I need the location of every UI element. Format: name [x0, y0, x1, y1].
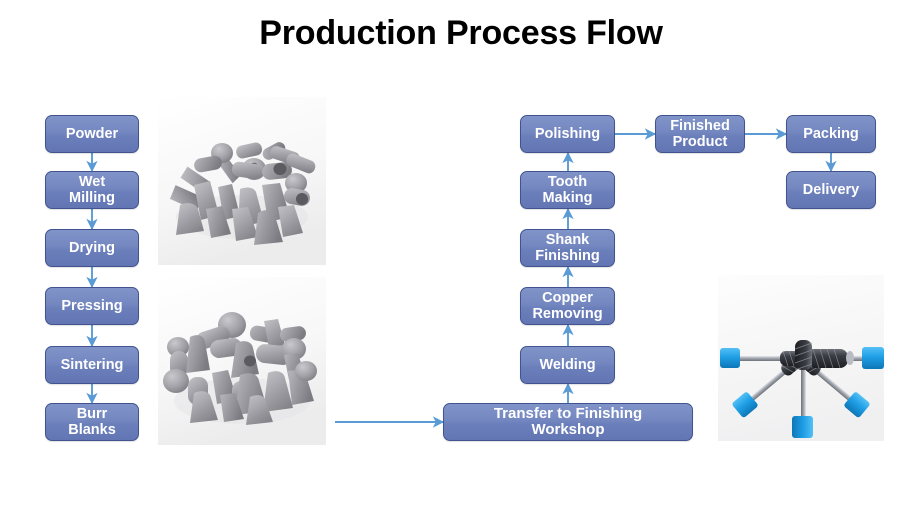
flow-node-finished-product[interactable]: Finished Product [655, 115, 745, 153]
flow-node-shank-finishing[interactable]: Shank Finishing [520, 229, 615, 267]
flow-node-drying[interactable]: Drying [45, 229, 139, 267]
flowchart-canvas: Production Process Flow [0, 0, 922, 517]
flow-node-copper-removing[interactable]: Copper Removing [520, 287, 615, 325]
flow-node-sintering[interactable]: Sintering [45, 346, 139, 384]
flow-node-delivery[interactable]: Delivery [786, 171, 876, 209]
flow-node-pressing[interactable]: Pressing [45, 287, 139, 325]
flow-node-polishing[interactable]: Polishing [520, 115, 615, 153]
flow-node-powder[interactable]: Powder [45, 115, 139, 153]
flow-node-packing[interactable]: Packing [786, 115, 876, 153]
flow-node-wet-milling[interactable]: Wet Milling [45, 171, 139, 209]
flow-node-transfer-to-finishing-workshop[interactable]: Transfer to Finishing Workshop [443, 403, 693, 441]
flow-node-tooth-making[interactable]: Tooth Making [520, 171, 615, 209]
flow-node-burr-blanks[interactable]: Burr Blanks [45, 403, 139, 441]
flow-node-welding[interactable]: Welding [520, 346, 615, 384]
